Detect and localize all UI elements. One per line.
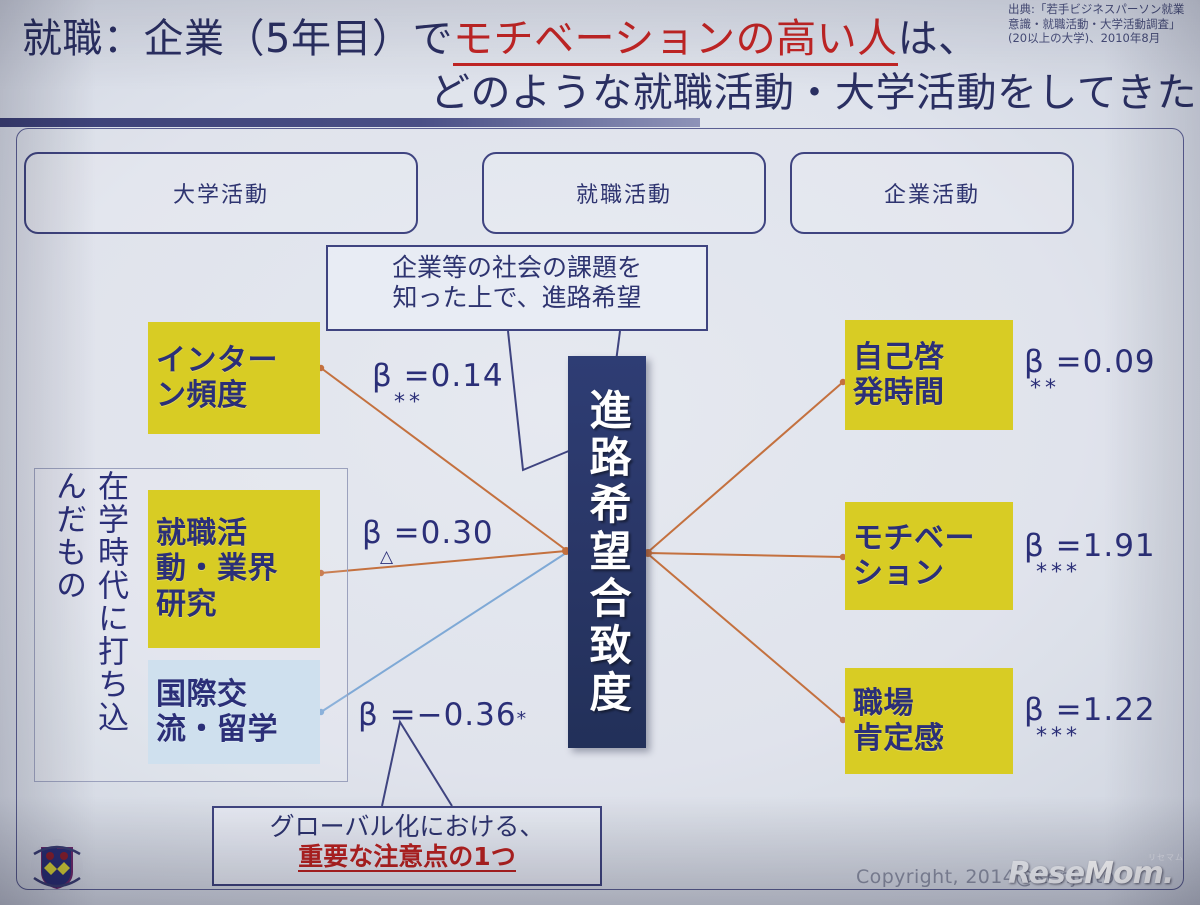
title-underline-rule xyxy=(0,118,700,127)
callout-bottom-line2: 重要な注意点の1つ xyxy=(298,844,515,872)
result-line2: ション xyxy=(853,556,945,591)
callout-bottom: グローバル化における、 重要な注意点の1つ xyxy=(212,806,602,886)
beta-value: β =0.14 xyxy=(372,358,504,394)
callout-top-line1: 企業等の社会の課題を xyxy=(328,253,706,283)
beta-label-job-research: β =0.30 △ xyxy=(362,515,494,567)
predictor-line1: 就職活 xyxy=(156,516,248,551)
predictor-line1: インター xyxy=(156,343,278,378)
predictor-line2: ン頻度 xyxy=(156,378,248,413)
source-citation: 出典:「若手ビジネスパーソン就業意識・就職活動・大学活動調査」(20以上の大学)… xyxy=(1008,2,1194,46)
result-line1: 職場 xyxy=(853,686,914,721)
result-line2: 発時間 xyxy=(853,375,945,410)
predictor-line2: 流・留学 xyxy=(156,712,278,747)
left-group-label-line2: んだもの xyxy=(46,470,91,602)
predictor-box-intern: インター ン頻度 xyxy=(148,322,320,434)
result-box-motivation: モチベー ション xyxy=(845,502,1013,610)
left-group-label-line1: 在学時代に打ち込 xyxy=(88,470,133,734)
beta-label-motivation: β =1.91 *** xyxy=(1024,528,1156,585)
beta-value: β =0.09 xyxy=(1024,344,1156,380)
category-label: 企業活動 xyxy=(884,177,980,209)
predictor-line1: 国際交 xyxy=(156,677,248,712)
result-box-self-development: 自己啓 発時間 xyxy=(845,320,1013,430)
predictor-box-international: 国際交 流・留学 xyxy=(148,660,320,764)
beta-label-intern: β =0.14 ** xyxy=(372,358,504,415)
category-box-university: 大学活動 xyxy=(24,152,418,234)
beta-label-international: β =−0.36* xyxy=(358,697,528,733)
slide-title-line2: どのような就職活動・大学活動をしてきたか xyxy=(430,60,1200,118)
predictor-line3: 研究 xyxy=(156,587,217,622)
beta-value: β =−0.36 xyxy=(358,697,517,733)
category-label: 大学活動 xyxy=(173,177,269,209)
watermark-ruby-text: リセマム xyxy=(1148,852,1184,863)
slide-title-line1: 就職：企業（5年目）でモチベーションの高い人は、 xyxy=(22,6,979,64)
beta-value: β =1.22 xyxy=(1024,692,1156,728)
predictor-line2: 動・業界 xyxy=(156,551,278,586)
beta-label-workplace-positivity: β =1.22 *** xyxy=(1024,692,1156,749)
outcome-box-career-match: 進路希望合致度 xyxy=(568,356,646,748)
predictor-box-job-research: 就職活 動・業界 研究 xyxy=(148,490,320,648)
title-prefix: 就職：企業（5年目）で xyxy=(22,16,453,62)
beta-value: β =1.91 xyxy=(1024,528,1156,564)
watermark-part-a: Rese xyxy=(1008,856,1084,891)
title-suffix: は、 xyxy=(898,16,979,62)
beta-label-self-development: β =0.09 ** xyxy=(1024,344,1156,401)
beta-value: β =0.30 xyxy=(362,515,494,551)
result-line2: 肯定感 xyxy=(853,721,945,756)
callout-bottom-line1: グローバル化における、 xyxy=(214,812,600,842)
result-box-workplace-positivity: 職場 肯定感 xyxy=(845,668,1013,774)
result-line1: モチベー xyxy=(853,521,975,556)
beta-significance: * xyxy=(517,708,529,730)
presentation-slide: 就職：企業（5年目）でモチベーションの高い人は、 どのような就職活動・大学活動を… xyxy=(0,0,1200,905)
callout-top-line2: 知った上で、進路希望 xyxy=(328,283,706,313)
outcome-label: 進路希望合致度 xyxy=(586,388,628,717)
category-box-jobhunting: 就職活動 xyxy=(482,152,766,234)
title-highlight: モチベーションの高い人 xyxy=(453,16,898,66)
university-emblem-icon xyxy=(30,838,84,894)
category-label: 就職活動 xyxy=(576,177,672,209)
callout-top: 企業等の社会の課題を 知った上で、進路希望 xyxy=(326,245,708,331)
result-line1: 自己啓 xyxy=(853,340,945,375)
category-box-corporate: 企業活動 xyxy=(790,152,1074,234)
